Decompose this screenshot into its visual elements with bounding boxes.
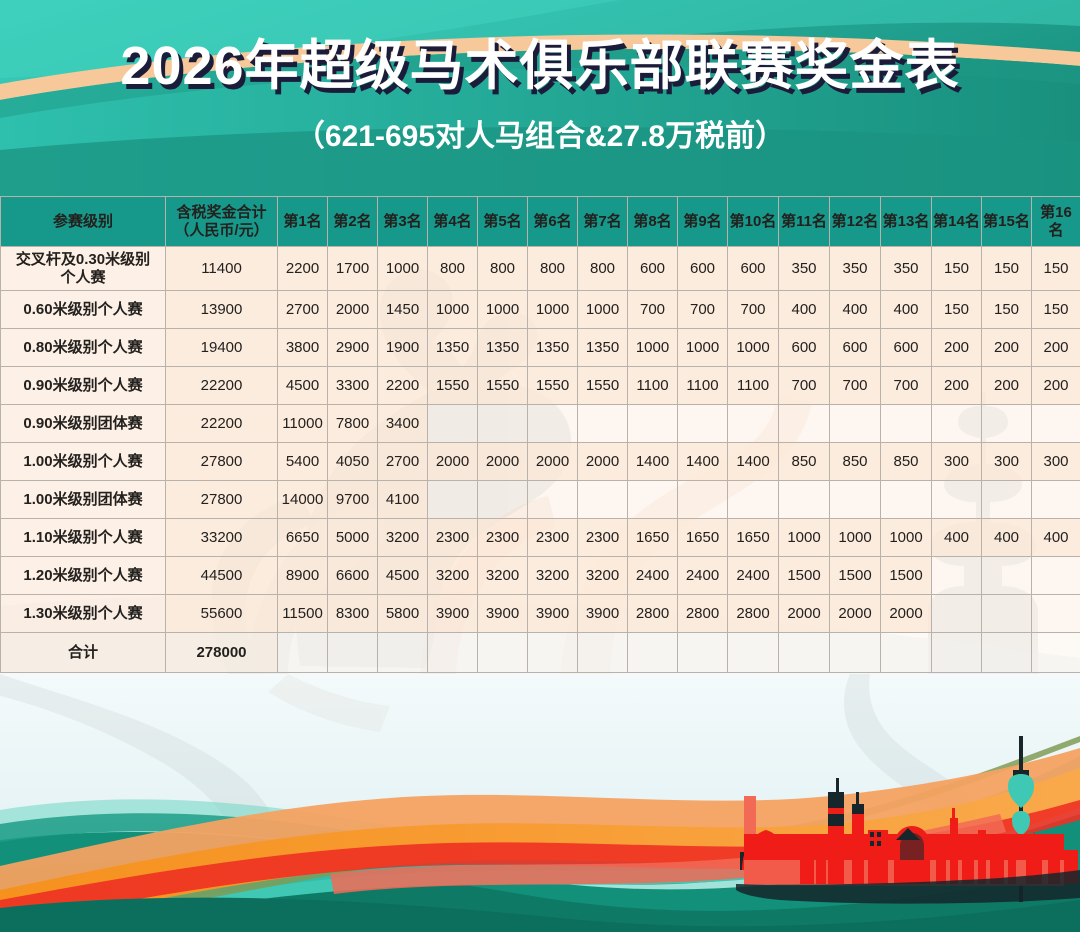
cell-total: 33200 bbox=[166, 519, 278, 557]
cell-rank-4: 1000 bbox=[428, 291, 478, 329]
cell-rank-13: 1000 bbox=[881, 519, 932, 557]
cell-rank-2: 2900 bbox=[328, 329, 378, 367]
cell-rank-8: 700 bbox=[628, 291, 678, 329]
cell-rank-1: 3800 bbox=[278, 329, 328, 367]
cell-rank-2: 2000 bbox=[328, 291, 378, 329]
cell-rank-10: 1000 bbox=[728, 329, 779, 367]
cell-rank-12: 850 bbox=[830, 443, 881, 481]
table-row: 0.90米级别团体赛222001100078003400 bbox=[1, 405, 1080, 443]
cell-rank-12: 350 bbox=[830, 247, 881, 291]
col-header-rank-4: 第4名 bbox=[428, 197, 478, 247]
cell-rank-4 bbox=[428, 405, 478, 443]
cell-rank-15 bbox=[982, 595, 1032, 633]
cell-rank-7: 800 bbox=[578, 247, 628, 291]
cell-rank-13: 700 bbox=[881, 367, 932, 405]
cell-rank-10: 1400 bbox=[728, 443, 779, 481]
cell-rank-7 bbox=[578, 481, 628, 519]
cell-rank-4 bbox=[428, 633, 478, 673]
cell-rank-2: 1700 bbox=[328, 247, 378, 291]
cell-rank-1: 2700 bbox=[278, 291, 328, 329]
cell-rank-6 bbox=[528, 633, 578, 673]
table-row: 0.60米级别个人赛139002700200014501000100010001… bbox=[1, 291, 1080, 329]
cell-rank-14: 300 bbox=[932, 443, 982, 481]
table-zone: 参赛级别 含税奖金合计 （人民币/元） 第1名 第2名 第3名 第4名 第5名 … bbox=[0, 196, 1080, 674]
cell-rank-8: 2800 bbox=[628, 595, 678, 633]
cell-total: 19400 bbox=[166, 329, 278, 367]
cell-rank-9: 700 bbox=[678, 291, 728, 329]
cell-rank-3: 4100 bbox=[378, 481, 428, 519]
col-header-rank-9: 第9名 bbox=[678, 197, 728, 247]
cell-rank-1: 6650 bbox=[278, 519, 328, 557]
col-header-total-line2: （人民币/元） bbox=[167, 222, 276, 239]
col-header-rank-7: 第7名 bbox=[578, 197, 628, 247]
cell-rank-16 bbox=[1032, 633, 1080, 673]
cell-category: 1.30米级别个人赛 bbox=[1, 595, 166, 633]
cell-rank-5: 3900 bbox=[478, 595, 528, 633]
cell-rank-3: 2200 bbox=[378, 367, 428, 405]
table-row: 0.80米级别个人赛194003800290019001350135013501… bbox=[1, 329, 1080, 367]
cell-rank-9: 2800 bbox=[678, 595, 728, 633]
cell-category-line2: 个人赛 bbox=[2, 269, 164, 286]
cell-rank-4: 3200 bbox=[428, 557, 478, 595]
col-header-rank-16: 第16名 bbox=[1032, 197, 1080, 247]
cell-rank-16 bbox=[1032, 405, 1080, 443]
cell-rank-12: 1000 bbox=[830, 519, 881, 557]
table-row: 1.00米级别团体赛278001400097004100 bbox=[1, 481, 1080, 519]
cell-rank-5: 2000 bbox=[478, 443, 528, 481]
cell-rank-9: 1650 bbox=[678, 519, 728, 557]
table-row: 交叉杆及0.30米级别个人赛11400220017001000800800800… bbox=[1, 247, 1080, 291]
cell-rank-9: 1100 bbox=[678, 367, 728, 405]
cell-rank-7 bbox=[578, 633, 628, 673]
cell-rank-3: 3200 bbox=[378, 519, 428, 557]
cell-rank-14: 200 bbox=[932, 329, 982, 367]
cell-rank-8: 1100 bbox=[628, 367, 678, 405]
cell-rank-14 bbox=[932, 481, 982, 519]
cell-rank-11: 600 bbox=[779, 329, 830, 367]
cell-rank-4: 1350 bbox=[428, 329, 478, 367]
cell-rank-1: 8900 bbox=[278, 557, 328, 595]
cell-rank-4: 2000 bbox=[428, 443, 478, 481]
cell-rank-14 bbox=[932, 405, 982, 443]
cell-rank-2: 6600 bbox=[328, 557, 378, 595]
cell-rank-15 bbox=[982, 557, 1032, 595]
cell-rank-12: 1500 bbox=[830, 557, 881, 595]
cell-rank-4: 3900 bbox=[428, 595, 478, 633]
cell-rank-11: 350 bbox=[779, 247, 830, 291]
cell-rank-4: 1550 bbox=[428, 367, 478, 405]
cell-rank-8: 600 bbox=[628, 247, 678, 291]
cell-rank-1: 2200 bbox=[278, 247, 328, 291]
col-header-rank-14: 第14名 bbox=[932, 197, 982, 247]
cell-rank-9 bbox=[678, 633, 728, 673]
cell-rank-14: 400 bbox=[932, 519, 982, 557]
cell-rank-3: 5800 bbox=[378, 595, 428, 633]
cell-rank-10 bbox=[728, 633, 779, 673]
cell-rank-9: 600 bbox=[678, 247, 728, 291]
cell-rank-14 bbox=[932, 633, 982, 673]
cell-category: 1.00米级别个人赛 bbox=[1, 443, 166, 481]
cell-rank-2: 3300 bbox=[328, 367, 378, 405]
cell-rank-6 bbox=[528, 481, 578, 519]
footer-wave-skyline-decoration bbox=[0, 674, 1080, 932]
cell-total: 13900 bbox=[166, 291, 278, 329]
cell-rank-11: 1000 bbox=[779, 519, 830, 557]
col-header-rank-6: 第6名 bbox=[528, 197, 578, 247]
cell-rank-14: 150 bbox=[932, 247, 982, 291]
col-header-rank-1: 第1名 bbox=[278, 197, 328, 247]
cell-rank-16: 150 bbox=[1032, 291, 1080, 329]
table-row: 1.00米级别个人赛278005400405027002000200020002… bbox=[1, 443, 1080, 481]
cell-category: 1.00米级别团体赛 bbox=[1, 481, 166, 519]
cell-rank-9 bbox=[678, 481, 728, 519]
cell-rank-7: 3200 bbox=[578, 557, 628, 595]
cell-rank-7 bbox=[578, 405, 628, 443]
cell-rank-14: 150 bbox=[932, 291, 982, 329]
cell-rank-16: 200 bbox=[1032, 329, 1080, 367]
cell-rank-1: 11000 bbox=[278, 405, 328, 443]
cell-rank-7: 1000 bbox=[578, 291, 628, 329]
cell-rank-8: 2400 bbox=[628, 557, 678, 595]
poster-footer bbox=[0, 674, 1080, 932]
cell-rank-14: 200 bbox=[932, 367, 982, 405]
cell-rank-6: 1550 bbox=[528, 367, 578, 405]
col-header-category: 参赛级别 bbox=[1, 197, 166, 247]
cell-rank-2: 8300 bbox=[328, 595, 378, 633]
cell-category: 1.20米级别个人赛 bbox=[1, 557, 166, 595]
cell-rank-10: 1100 bbox=[728, 367, 779, 405]
cell-rank-3: 1900 bbox=[378, 329, 428, 367]
cell-rank-16: 200 bbox=[1032, 367, 1080, 405]
cell-rank-12 bbox=[830, 481, 881, 519]
cell-rank-3: 1000 bbox=[378, 247, 428, 291]
col-header-total: 含税奖金合计 （人民币/元） bbox=[166, 197, 278, 247]
cell-rank-1: 11500 bbox=[278, 595, 328, 633]
cell-rank-3: 3400 bbox=[378, 405, 428, 443]
cell-rank-8 bbox=[628, 481, 678, 519]
cell-category: 0.60米级别个人赛 bbox=[1, 291, 166, 329]
cell-rank-10: 600 bbox=[728, 247, 779, 291]
cell-rank-1: 4500 bbox=[278, 367, 328, 405]
cell-rank-7: 3900 bbox=[578, 595, 628, 633]
cell-rank-11: 1500 bbox=[779, 557, 830, 595]
cell-rank-15: 150 bbox=[982, 291, 1032, 329]
col-header-rank-5: 第5名 bbox=[478, 197, 528, 247]
cell-rank-11: 400 bbox=[779, 291, 830, 329]
page-title: 2026年超级马术俱乐部联赛奖金表 bbox=[0, 38, 1080, 95]
cell-rank-15: 150 bbox=[982, 247, 1032, 291]
cell-rank-5: 1000 bbox=[478, 291, 528, 329]
page-subtitle: （621-695对人马组合&27.8万税前） bbox=[0, 111, 1080, 155]
cell-rank-9: 2400 bbox=[678, 557, 728, 595]
cell-rank-10 bbox=[728, 481, 779, 519]
cell-rank-11: 2000 bbox=[779, 595, 830, 633]
cell-rank-10: 1650 bbox=[728, 519, 779, 557]
cell-category: 交叉杆及0.30米级别个人赛 bbox=[1, 247, 166, 291]
cell-rank-16 bbox=[1032, 481, 1080, 519]
cell-rank-13: 400 bbox=[881, 291, 932, 329]
cell-rank-13: 600 bbox=[881, 329, 932, 367]
cell-rank-15 bbox=[982, 481, 1032, 519]
cell-category: 0.90米级别个人赛 bbox=[1, 367, 166, 405]
cell-category: 1.10米级别个人赛 bbox=[1, 519, 166, 557]
cell-category-line1: 交叉杆及0.30米级别 bbox=[2, 251, 164, 268]
cell-rank-12 bbox=[830, 633, 881, 673]
cell-rank-8: 1650 bbox=[628, 519, 678, 557]
cell-total: 22200 bbox=[166, 367, 278, 405]
cell-rank-6: 2300 bbox=[528, 519, 578, 557]
cell-rank-7: 2000 bbox=[578, 443, 628, 481]
cell-rank-10: 700 bbox=[728, 291, 779, 329]
table-row: 1.20米级别个人赛445008900660045003200320032003… bbox=[1, 557, 1080, 595]
cell-rank-5: 800 bbox=[478, 247, 528, 291]
cell-rank-12: 700 bbox=[830, 367, 881, 405]
cell-rank-3: 2700 bbox=[378, 443, 428, 481]
table-row: 1.30米级别个人赛556001150083005800390039003900… bbox=[1, 595, 1080, 633]
cell-rank-13 bbox=[881, 481, 932, 519]
cell-rank-3: 4500 bbox=[378, 557, 428, 595]
cell-rank-12 bbox=[830, 405, 881, 443]
cell-rank-8: 1000 bbox=[628, 329, 678, 367]
cell-rank-11: 850 bbox=[779, 443, 830, 481]
cell-rank-5: 1550 bbox=[478, 367, 528, 405]
cell-rank-6: 1000 bbox=[528, 291, 578, 329]
col-header-rank-15: 第15名 bbox=[982, 197, 1032, 247]
cell-rank-2: 9700 bbox=[328, 481, 378, 519]
cell-rank-3 bbox=[378, 633, 428, 673]
cell-rank-2: 4050 bbox=[328, 443, 378, 481]
poster-header: 2026年超级马术俱乐部联赛奖金表 （621-695对人马组合&27.8万税前） bbox=[0, 0, 1080, 196]
cell-rank-13 bbox=[881, 405, 932, 443]
cell-rank-2: 5000 bbox=[328, 519, 378, 557]
cell-rank-6: 800 bbox=[528, 247, 578, 291]
cell-rank-13: 850 bbox=[881, 443, 932, 481]
cell-category: 合计 bbox=[1, 633, 166, 673]
cell-rank-1: 5400 bbox=[278, 443, 328, 481]
cell-rank-10: 2800 bbox=[728, 595, 779, 633]
prize-table-poster: 2026年超级马术俱乐部联赛奖金表 （621-695对人马组合&27.8万税前） bbox=[0, 0, 1080, 932]
table-header-row: 参赛级别 含税奖金合计 （人民币/元） 第1名 第2名 第3名 第4名 第5名 … bbox=[1, 197, 1080, 247]
cell-total: 27800 bbox=[166, 481, 278, 519]
cell-rank-11 bbox=[779, 633, 830, 673]
cell-category: 0.80米级别个人赛 bbox=[1, 329, 166, 367]
cell-rank-16: 150 bbox=[1032, 247, 1080, 291]
cell-rank-9: 1400 bbox=[678, 443, 728, 481]
col-header-rank-11: 第11名 bbox=[779, 197, 830, 247]
cell-rank-15 bbox=[982, 633, 1032, 673]
cell-rank-16 bbox=[1032, 595, 1080, 633]
col-header-total-line1: 含税奖金合计 bbox=[167, 204, 276, 221]
cell-rank-4 bbox=[428, 481, 478, 519]
prize-table: 参赛级别 含税奖金合计 （人民币/元） 第1名 第2名 第3名 第4名 第5名 … bbox=[0, 196, 1080, 673]
cell-rank-13 bbox=[881, 633, 932, 673]
col-header-rank-10: 第10名 bbox=[728, 197, 779, 247]
col-header-rank-13: 第13名 bbox=[881, 197, 932, 247]
title-block: 2026年超级马术俱乐部联赛奖金表 （621-695对人马组合&27.8万税前） bbox=[0, 38, 1080, 155]
cell-rank-14 bbox=[932, 557, 982, 595]
cell-total: 55600 bbox=[166, 595, 278, 633]
col-header-rank-8: 第8名 bbox=[628, 197, 678, 247]
col-header-rank-2: 第2名 bbox=[328, 197, 378, 247]
cell-rank-15: 400 bbox=[982, 519, 1032, 557]
cell-rank-1: 14000 bbox=[278, 481, 328, 519]
cell-rank-15 bbox=[982, 405, 1032, 443]
cell-rank-13: 350 bbox=[881, 247, 932, 291]
cell-rank-2: 7800 bbox=[328, 405, 378, 443]
cell-rank-5: 3200 bbox=[478, 557, 528, 595]
col-header-rank-3: 第3名 bbox=[378, 197, 428, 247]
cell-rank-4: 800 bbox=[428, 247, 478, 291]
table-row: 0.90米级别个人赛222004500330022001550155015501… bbox=[1, 367, 1080, 405]
cell-rank-6 bbox=[528, 405, 578, 443]
cell-rank-13: 2000 bbox=[881, 595, 932, 633]
cell-rank-9 bbox=[678, 405, 728, 443]
cell-total: 11400 bbox=[166, 247, 278, 291]
table-row: 1.10米级别个人赛332006650500032002300230023002… bbox=[1, 519, 1080, 557]
cell-rank-15: 300 bbox=[982, 443, 1032, 481]
cell-rank-12: 400 bbox=[830, 291, 881, 329]
cell-rank-14 bbox=[932, 595, 982, 633]
table-row: 合计278000 bbox=[1, 633, 1080, 673]
cell-rank-8 bbox=[628, 633, 678, 673]
cell-total: 27800 bbox=[166, 443, 278, 481]
cell-category: 0.90米级别团体赛 bbox=[1, 405, 166, 443]
cell-rank-12: 2000 bbox=[830, 595, 881, 633]
cell-rank-5 bbox=[478, 633, 528, 673]
cell-rank-5: 2300 bbox=[478, 519, 528, 557]
cell-rank-12: 600 bbox=[830, 329, 881, 367]
cell-rank-7: 2300 bbox=[578, 519, 628, 557]
cell-rank-11 bbox=[779, 405, 830, 443]
cell-rank-5 bbox=[478, 405, 528, 443]
cell-rank-9: 1000 bbox=[678, 329, 728, 367]
cell-rank-1 bbox=[278, 633, 328, 673]
cell-rank-3: 1450 bbox=[378, 291, 428, 329]
cell-rank-6: 2000 bbox=[528, 443, 578, 481]
cell-rank-6: 3200 bbox=[528, 557, 578, 595]
cell-rank-16 bbox=[1032, 557, 1080, 595]
cell-rank-15: 200 bbox=[982, 329, 1032, 367]
cell-total: 22200 bbox=[166, 405, 278, 443]
cell-rank-10 bbox=[728, 405, 779, 443]
cell-rank-11: 700 bbox=[779, 367, 830, 405]
cell-rank-2 bbox=[328, 633, 378, 673]
cell-rank-7: 1350 bbox=[578, 329, 628, 367]
cell-rank-15: 200 bbox=[982, 367, 1032, 405]
table-body: 交叉杆及0.30米级别个人赛11400220017001000800800800… bbox=[1, 247, 1080, 673]
cell-rank-5 bbox=[478, 481, 528, 519]
cell-rank-8 bbox=[628, 405, 678, 443]
cell-rank-13: 1500 bbox=[881, 557, 932, 595]
cell-total: 278000 bbox=[166, 633, 278, 673]
cell-rank-10: 2400 bbox=[728, 557, 779, 595]
cell-rank-11 bbox=[779, 481, 830, 519]
cell-rank-5: 1350 bbox=[478, 329, 528, 367]
cell-rank-6: 3900 bbox=[528, 595, 578, 633]
cell-rank-16: 400 bbox=[1032, 519, 1080, 557]
cell-rank-6: 1350 bbox=[528, 329, 578, 367]
cell-rank-8: 1400 bbox=[628, 443, 678, 481]
cell-rank-16: 300 bbox=[1032, 443, 1080, 481]
cell-rank-7: 1550 bbox=[578, 367, 628, 405]
cell-total: 44500 bbox=[166, 557, 278, 595]
col-header-rank-12: 第12名 bbox=[830, 197, 881, 247]
cell-rank-4: 2300 bbox=[428, 519, 478, 557]
